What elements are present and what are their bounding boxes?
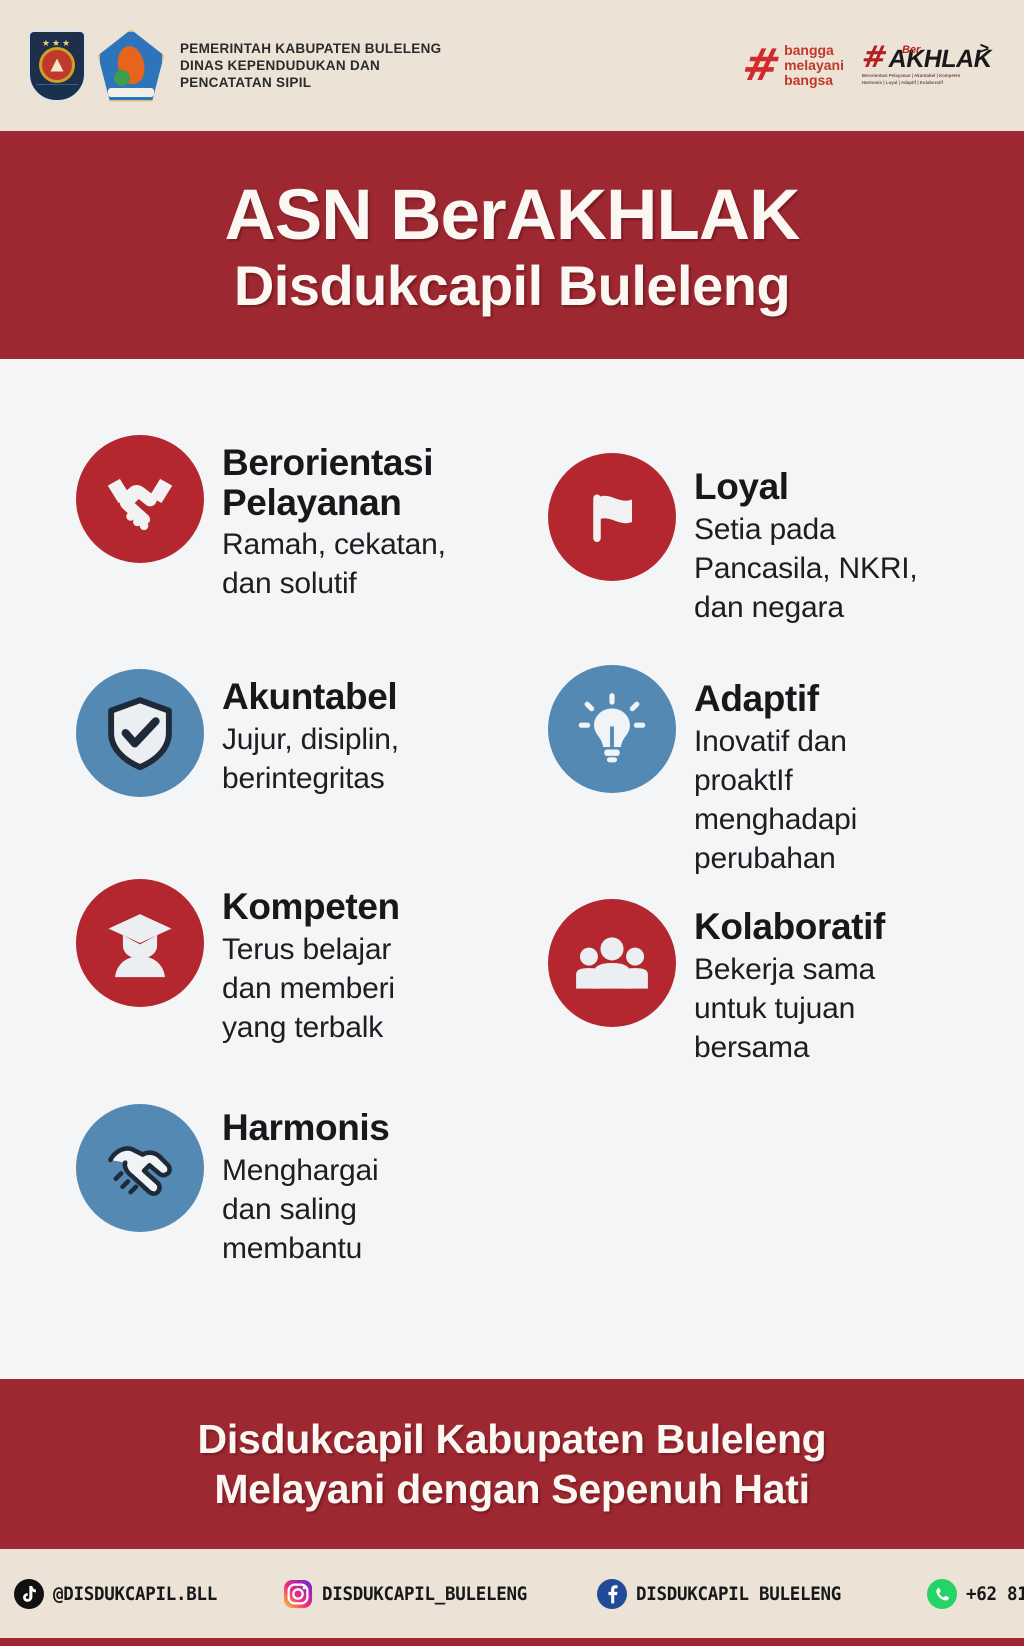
value-item-berorientasi-pelayanan: Berorientasi Pelayanan Ramah, cekatan,da… [76, 435, 516, 603]
campaign-logos: # bangga melayani bangsa # AKHLAK Ber > … [743, 43, 1006, 87]
value-text-block: Berorientasi Pelayanan Ramah, cekatan,da… [222, 435, 446, 603]
value-title: Adaptif [694, 679, 857, 719]
social-link-tiktok[interactable]: @DISDUKCAPIL.BLL [14, 1579, 231, 1609]
value-title: Harmonis [222, 1108, 389, 1148]
value-description: Inovatif danproaktIfmenghadapiperubahan [694, 722, 857, 878]
org-line-1: PEMERINTAH KABUPATEN BULELENG [180, 40, 441, 57]
value-title: Akuntabel [222, 677, 399, 717]
tiktok-handle: @DISDUKCAPIL.BLL [53, 1583, 217, 1605]
value-item-loyal: Loyal Setia padaPancasila, NKRI,dan nega… [548, 453, 998, 627]
value-title-line-1: Berorientasi [222, 443, 446, 483]
social-link-facebook[interactable]: DISDUKCAPIL BULELENG [597, 1579, 859, 1609]
berakhlak-wordmark: # AKHLAK [860, 45, 988, 71]
value-item-kolaboratif: Kolaboratif Bekerja samauntuk tujuanbers… [548, 899, 998, 1067]
org-line-2: DINAS KEPENDUDUKAN DAN [180, 57, 441, 74]
whatsapp-number: +62 819-3868-1200 [966, 1583, 1024, 1605]
value-title-line-2: Pelayanan [222, 483, 446, 523]
ber-prefix: Ber [902, 44, 920, 56]
value-text-block: Akuntabel Jujur, disiplin,berintegritas [222, 669, 399, 798]
instagram-icon [283, 1579, 313, 1609]
berakhlak-logo: # AKHLAK Ber > Berorientasi Pelayanan | … [862, 45, 986, 86]
social-link-instagram[interactable]: DISDUKCAPIL_BULELENG [283, 1579, 545, 1609]
title-banner: ASN BerAKHLAK Disdukcapil Buleleng [0, 131, 1024, 359]
handshake-outline-icon [76, 1104, 204, 1232]
graduate-person-icon [76, 879, 204, 1007]
value-text-block: Adaptif Inovatif danproaktIfmenghadapipe… [694, 665, 857, 878]
value-description: Jujur, disiplin,berintegritas [222, 720, 399, 798]
people-group-icon [548, 899, 676, 1027]
page-subtitle: Disdukcapil Buleleng [234, 257, 790, 316]
hash-icon: # [739, 48, 783, 83]
header-bar: ★★★ PEMERINTAH KABUPATEN BULELENG DINAS … [0, 0, 1024, 131]
value-item-akuntabel: Akuntabel Jujur, disiplin,berintegritas [76, 669, 516, 798]
bottom-banner: Disdukcapil Kabupaten Buleleng Melayani … [0, 1379, 1024, 1549]
garuda-base-shape [36, 84, 78, 96]
bottom-banner-line-1: Disdukcapil Kabupaten Buleleng [198, 1414, 827, 1464]
garuda-emblem-icon: ★★★ [28, 30, 86, 102]
bangga-melayani-bangsa-logo: # bangga melayani bangsa [743, 43, 844, 87]
core-values-list: Berorientasi Pelayanan Ramah, cekatan,da… [0, 359, 1024, 1359]
value-title: Loyal [694, 467, 918, 507]
value-description: Setia padaPancasila, NKRI,dan negara [694, 510, 918, 627]
value-title: Kompeten [222, 887, 400, 927]
value-item-adaptif: Adaptif Inovatif danproaktIfmenghadapipe… [548, 665, 998, 878]
value-item-harmonis: Harmonis Menghargaidan salingmembantu [76, 1104, 516, 1268]
value-text-block: Harmonis Menghargaidan salingmembantu [222, 1104, 389, 1268]
value-text-block: Loyal Setia padaPancasila, NKRI,dan nega… [694, 453, 918, 627]
flag-icon [548, 453, 676, 581]
org-line-3: PENCATATAN SIPIL [180, 74, 441, 91]
bottom-banner-line-2: Melayani dengan Sepenuh Hati [214, 1464, 809, 1514]
value-item-kompeten: Kompeten Terus belajardan memberiyang te… [76, 879, 516, 1047]
bangga-word-2: melayani [784, 58, 844, 73]
bangga-word-1: bangga [784, 43, 844, 58]
buleleng-ribbon-shape [108, 88, 154, 97]
facebook-icon [597, 1579, 627, 1609]
value-title: Berorientasi Pelayanan [222, 443, 446, 522]
buleleng-emblem-icon [98, 30, 164, 102]
bangga-logo-words: bangga melayani bangsa [784, 43, 844, 87]
bangga-word-3: bangsa [784, 73, 844, 88]
value-description: Ramah, cekatan,dan solutif [222, 525, 446, 603]
lightbulb-icon [548, 665, 676, 793]
handshake-filled-icon [76, 435, 204, 563]
tiktok-icon [14, 1579, 44, 1609]
value-text-block: Kompeten Terus belajardan memberiyang te… [222, 879, 400, 1047]
whatsapp-icon [927, 1579, 957, 1609]
value-description: Menghargaidan salingmembantu [222, 1151, 389, 1268]
shield-check-icon [76, 669, 204, 797]
value-description: Terus belajardan memberiyang terbalk [222, 930, 400, 1047]
value-text-block: Kolaboratif Bekerja samauntuk tujuanbers… [694, 899, 885, 1067]
institution-name: PEMERINTAH KABUPATEN BULELENG DINAS KEPE… [180, 40, 441, 92]
instagram-handle: DISDUKCAPIL_BULELENG [322, 1583, 527, 1605]
social-link-whatsapp[interactable]: +62 819-3868-1200 [927, 1579, 1024, 1609]
hash-icon: # [860, 45, 890, 71]
tagline-line-2: Harmonis | Loyal | Adaptif | Kolaboratif [862, 80, 986, 86]
garuda-stars-icon: ★★★ [42, 38, 72, 49]
footer-social-bar: @DISDUKCAPIL.BLL [0, 1549, 1024, 1646]
institution-logos: ★★★ [28, 30, 164, 102]
facebook-page-name: DISDUKCAPIL BULELENG [636, 1583, 841, 1605]
poster-root: ★★★ PEMERINTAH KABUPATEN BULELENG DINAS … [0, 0, 1024, 1646]
berakhlak-tagline: Berorientasi Pelayanan | Akuntabel | Kom… [862, 73, 986, 86]
value-description: Bekerja samauntuk tujuanbersama [694, 950, 885, 1067]
page-title: ASN BerAKHLAK [225, 180, 800, 252]
value-title: Kolaboratif [694, 907, 885, 947]
